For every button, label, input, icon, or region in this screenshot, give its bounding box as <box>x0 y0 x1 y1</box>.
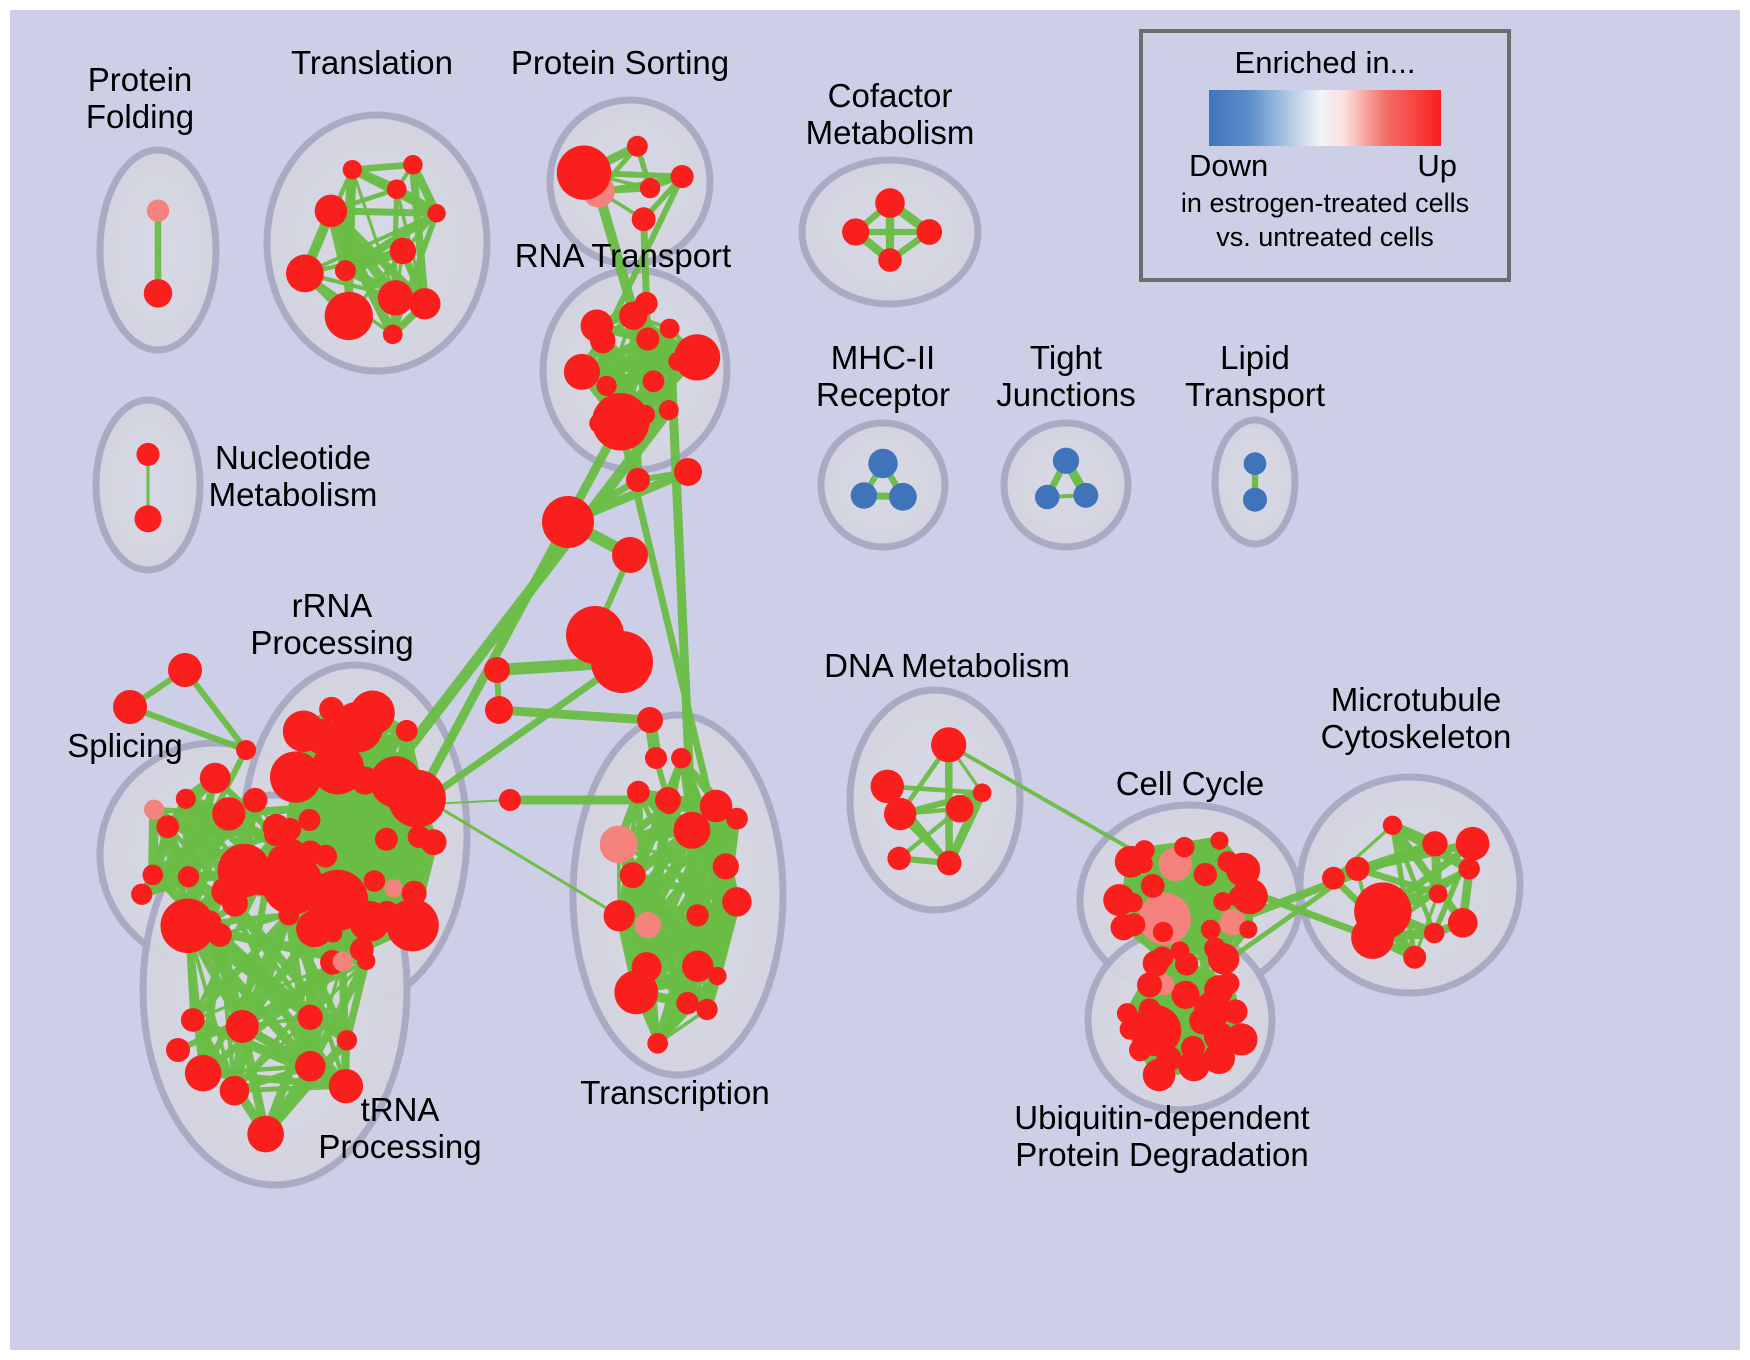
network-node[interactable] <box>1322 867 1345 890</box>
network-node[interactable] <box>726 808 748 830</box>
network-node[interactable] <box>386 899 439 952</box>
figure-canvas: Protein Folding Translation Protein Sort… <box>0 0 1750 1360</box>
network-node[interactable] <box>1456 827 1490 861</box>
network-node[interactable] <box>1383 816 1402 835</box>
network-node[interactable] <box>160 898 215 953</box>
network-node[interactable] <box>147 200 169 222</box>
network-node[interactable] <box>1210 832 1228 850</box>
network-node[interactable] <box>643 370 665 392</box>
network-node[interactable] <box>655 787 681 813</box>
network-node[interactable] <box>604 900 635 931</box>
network-node[interactable] <box>1345 857 1369 881</box>
network-node[interactable] <box>1239 920 1257 938</box>
network-node[interactable] <box>1174 837 1194 857</box>
network-node[interactable] <box>612 537 648 573</box>
network-node[interactable] <box>1243 488 1267 512</box>
network-node[interactable] <box>871 770 905 804</box>
network-node[interactable] <box>278 905 299 926</box>
legend-caption-line2: vs. untreated cells <box>1143 222 1507 254</box>
network-node[interactable] <box>600 825 638 863</box>
network-node[interactable] <box>247 1116 284 1153</box>
network-node[interactable] <box>674 334 720 380</box>
network-node[interactable] <box>156 815 179 838</box>
network-node[interactable] <box>333 952 353 972</box>
network-node[interactable] <box>220 1076 250 1106</box>
network-node[interactable] <box>875 188 905 218</box>
network-node[interactable] <box>946 795 974 823</box>
network-node[interactable] <box>1403 946 1426 969</box>
network-node[interactable] <box>696 999 717 1020</box>
network-node[interactable] <box>131 884 152 905</box>
network-node[interactable] <box>1153 922 1173 942</box>
cluster-ellipse-tight-junctions <box>1004 423 1128 547</box>
network-node[interactable] <box>181 1008 205 1032</box>
network-node[interactable] <box>315 195 348 228</box>
network-node[interactable] <box>1424 923 1445 944</box>
network-background: Protein Folding Translation Protein Sort… <box>10 10 1740 1350</box>
network-node[interactable] <box>632 207 656 231</box>
network-node[interactable] <box>640 178 660 198</box>
network-node[interactable] <box>1053 448 1079 474</box>
network-node[interactable] <box>1458 858 1479 879</box>
network-node[interactable] <box>1129 1039 1151 1061</box>
network-node[interactable] <box>176 789 196 809</box>
network-node[interactable] <box>387 179 407 199</box>
network-node[interactable] <box>627 136 648 157</box>
network-node[interactable] <box>211 877 240 906</box>
network-node[interactable] <box>263 814 290 841</box>
network-node[interactable] <box>564 354 600 390</box>
network-node[interactable] <box>620 862 646 888</box>
legend-endpoints: Down Up <box>1189 148 1461 186</box>
network-node[interactable] <box>1351 916 1394 959</box>
network-node[interactable] <box>708 967 726 985</box>
network-node[interactable] <box>378 280 413 315</box>
network-node[interactable] <box>243 788 268 813</box>
network-node[interactable] <box>1208 943 1240 975</box>
network-node[interactable] <box>144 279 173 308</box>
network-node[interactable] <box>245 859 281 895</box>
network-node[interactable] <box>635 292 658 315</box>
network-node[interactable] <box>614 422 638 446</box>
network-node[interactable] <box>542 496 594 548</box>
network-node[interactable] <box>343 160 362 179</box>
network-node[interactable] <box>637 707 663 733</box>
network-node[interactable] <box>286 255 324 293</box>
network-node[interactable] <box>144 800 164 820</box>
network-node[interactable] <box>178 866 199 887</box>
network-node[interactable] <box>645 747 667 769</box>
network-node[interactable] <box>581 310 614 343</box>
network-node[interactable] <box>1244 452 1267 475</box>
network-node[interactable] <box>686 904 708 926</box>
network-node[interactable] <box>1429 884 1448 903</box>
network-node[interactable] <box>1115 846 1147 878</box>
network-node[interactable] <box>1139 998 1161 1020</box>
network-node[interactable] <box>868 449 897 478</box>
network-node[interactable] <box>270 751 321 802</box>
network-node[interactable] <box>557 146 611 200</box>
network-node[interactable] <box>674 458 702 486</box>
network-node[interactable] <box>337 1030 357 1050</box>
network-node[interactable] <box>647 1033 668 1054</box>
network-node[interactable] <box>403 155 422 174</box>
cluster-ellipse-dna-metabolism <box>850 690 1020 910</box>
network-node[interactable] <box>931 727 966 762</box>
network-node[interactable] <box>1448 908 1478 938</box>
network-node[interactable] <box>383 324 403 344</box>
network-node[interactable] <box>626 468 650 492</box>
network-node[interactable] <box>390 238 417 265</box>
network-edge <box>440 662 622 790</box>
network-node[interactable] <box>937 851 962 876</box>
legend-caption-line1: in estrogen-treated cells <box>1143 188 1507 220</box>
network-node[interactable] <box>226 1010 259 1043</box>
network-node[interactable] <box>614 970 658 1014</box>
network-node[interactable] <box>973 783 992 802</box>
network-node[interactable] <box>396 720 418 742</box>
network-node[interactable] <box>1201 920 1221 940</box>
network-node[interactable] <box>1175 952 1198 975</box>
network-node[interactable] <box>635 912 661 938</box>
network-node[interactable] <box>713 853 739 879</box>
network-node[interactable] <box>1143 1059 1176 1092</box>
network-node[interactable] <box>484 657 510 683</box>
network-node[interactable] <box>136 443 159 466</box>
network-node[interactable] <box>375 828 398 851</box>
legend-title: Enriched in... <box>1143 45 1507 81</box>
network-node[interactable] <box>851 482 877 508</box>
network-node[interactable] <box>1225 1023 1257 1055</box>
network-node[interactable] <box>335 260 356 281</box>
network-node[interactable] <box>212 797 245 830</box>
network-node[interactable] <box>889 483 917 511</box>
network-node[interactable] <box>384 879 402 897</box>
network-node[interactable] <box>297 1005 322 1030</box>
network-node[interactable] <box>329 1069 363 1103</box>
network-node[interactable] <box>499 789 521 811</box>
network-node[interactable] <box>1143 950 1169 976</box>
network-node[interactable] <box>1035 485 1059 509</box>
network-node[interactable] <box>1141 874 1165 898</box>
network-node[interactable] <box>236 740 256 760</box>
network-node[interactable] <box>842 218 869 245</box>
network-node[interactable] <box>916 219 942 245</box>
network-node[interactable] <box>357 952 375 970</box>
network-node[interactable] <box>636 327 659 350</box>
legend-box: Enriched in... Down Up in estrogen-treat… <box>1139 29 1511 282</box>
network-node[interactable] <box>350 691 394 735</box>
network-node[interactable] <box>887 847 910 870</box>
network-node[interactable] <box>364 870 386 892</box>
network-node[interactable] <box>660 319 680 339</box>
network-node[interactable] <box>589 414 608 433</box>
network-node[interactable] <box>388 770 446 828</box>
network-node[interactable] <box>671 165 694 188</box>
network-node[interactable] <box>1223 999 1247 1023</box>
network-node[interactable] <box>427 204 445 222</box>
network-node[interactable] <box>671 748 691 768</box>
network-node[interactable] <box>1217 972 1239 994</box>
network-node[interactable] <box>1103 884 1135 916</box>
network-node[interactable] <box>676 992 698 1014</box>
network-node[interactable] <box>298 809 320 831</box>
network-node[interactable] <box>591 631 653 693</box>
network-node[interactable] <box>1422 831 1447 856</box>
network-node[interactable] <box>1073 483 1098 508</box>
network-node[interactable] <box>143 865 164 886</box>
network-node[interactable] <box>627 781 650 804</box>
cluster-ellipse-mhc-ii-receptor <box>821 423 945 547</box>
network-node[interactable] <box>421 829 447 855</box>
network-node[interactable] <box>485 696 513 724</box>
network-node[interactable] <box>113 690 147 724</box>
network-node[interactable] <box>596 376 616 396</box>
network-node[interactable] <box>295 1051 325 1081</box>
network-node[interactable] <box>1111 914 1137 940</box>
network-node[interactable] <box>409 288 440 319</box>
network-node[interactable] <box>200 763 231 794</box>
network-node[interactable] <box>1194 863 1217 886</box>
network-node[interactable] <box>283 711 324 752</box>
network-node[interactable] <box>878 248 902 272</box>
legend-color-gradient <box>1209 90 1441 146</box>
legend-up-label: Up <box>1417 148 1457 184</box>
network-node[interactable] <box>319 697 344 722</box>
network-node[interactable] <box>185 1055 222 1092</box>
network-node[interactable] <box>134 505 161 532</box>
network-node[interactable] <box>325 292 373 340</box>
network-node[interactable] <box>168 653 202 687</box>
legend-down-label: Down <box>1189 148 1268 184</box>
network-node[interactable] <box>659 400 679 420</box>
network-node[interactable] <box>1226 853 1260 887</box>
network-edge <box>499 710 650 720</box>
network-node[interactable] <box>307 870 368 931</box>
network-node[interactable] <box>166 1038 190 1062</box>
network-node[interactable] <box>1117 1003 1138 1024</box>
network-node[interactable] <box>722 887 752 917</box>
